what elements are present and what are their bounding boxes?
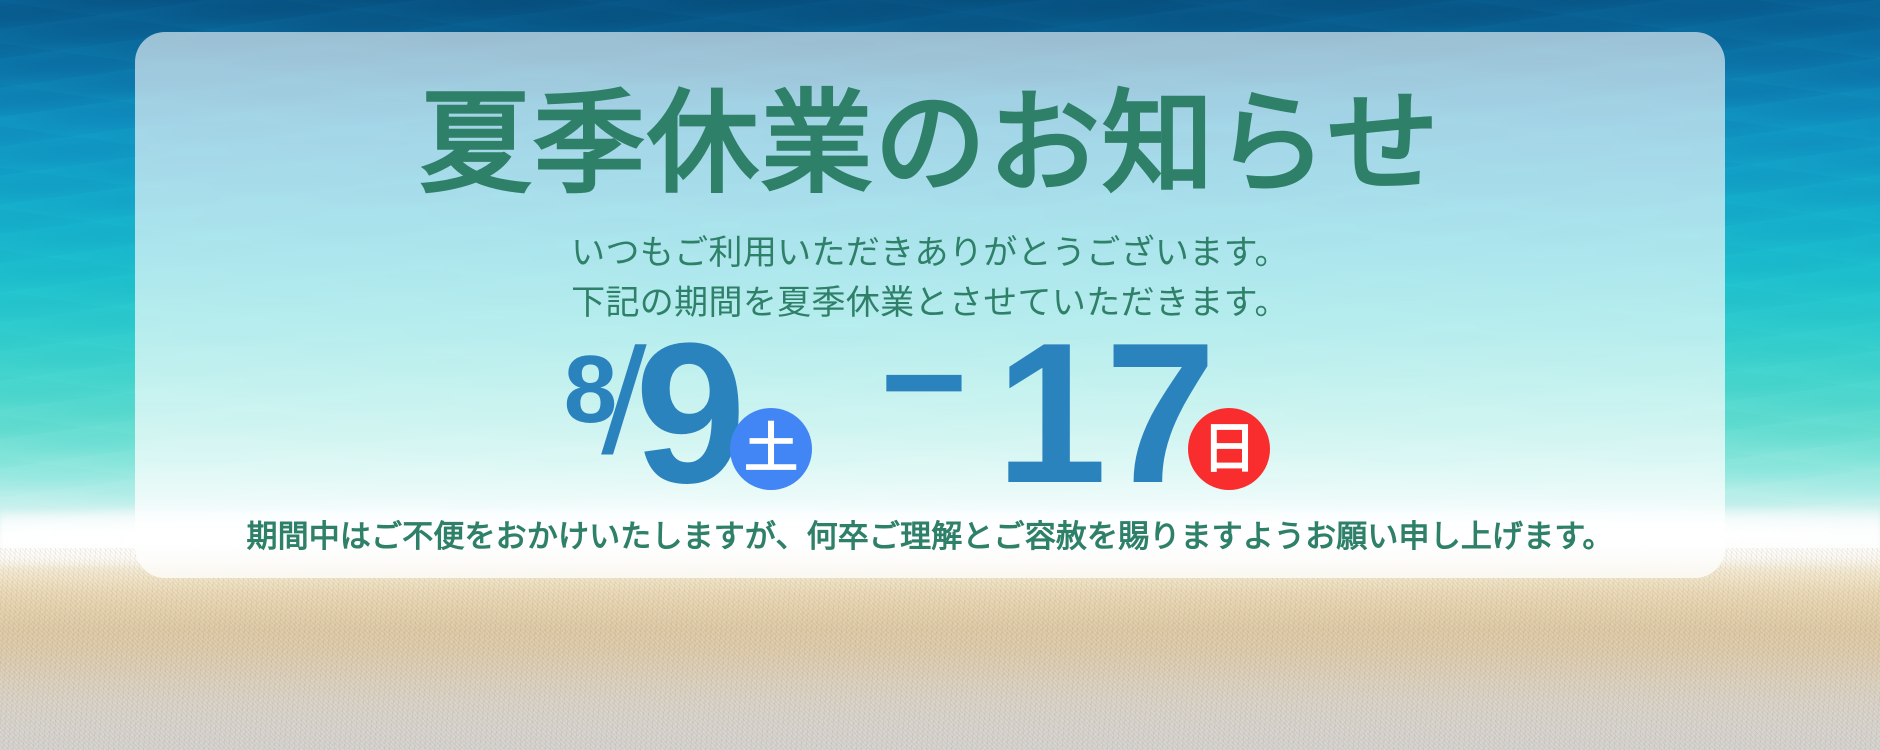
period-start-date: 8 / 9 土 — [564, 332, 852, 496]
notice-card: 夏季休業のお知らせ いつもご利用いただきありがとうございます。 下記の期間を夏季… — [135, 32, 1725, 578]
date-range-dash-icon: − — [880, 306, 968, 456]
banner-stage: 夏季休業のお知らせ いつもご利用いただきありがとうございます。 下記の期間を夏季… — [0, 0, 1880, 750]
apology-footnote: 期間中はご不便をおかけいたしますが、何卒ご理解とご容赦を賜りますようお願い申し上… — [135, 511, 1725, 556]
period-end-date: 17 日 — [996, 332, 1296, 496]
lead-line-1: いつもご利用いただきありがとうございます。 — [135, 228, 1725, 278]
start-weekday-badge: 土 — [730, 408, 812, 490]
page-title: 夏季休業のお知らせ — [135, 84, 1725, 205]
end-weekday-badge: 日 — [1188, 408, 1270, 490]
start-day: 9 — [635, 332, 746, 496]
end-day: 17 — [996, 332, 1214, 496]
holiday-period: 8 / 9 土 − 17 日 — [135, 332, 1725, 496]
